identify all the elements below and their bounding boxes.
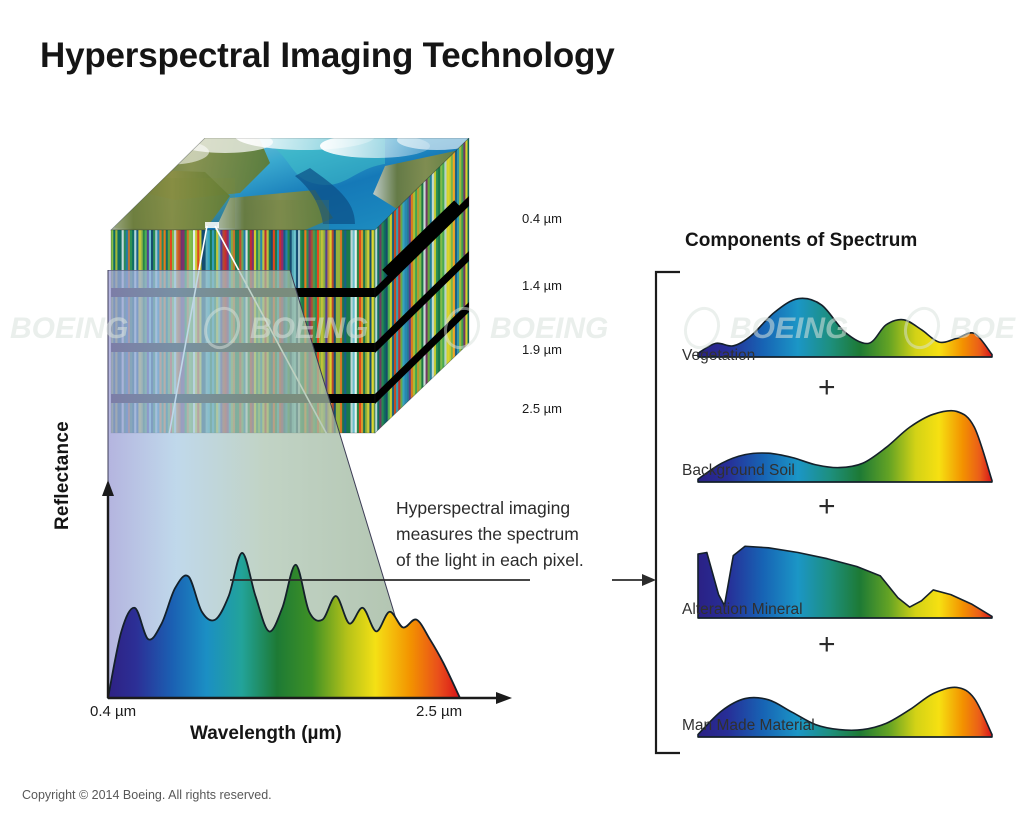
x-axis-label: Wavelength (µm) bbox=[190, 723, 342, 745]
explanatory-caption: Hyperspectral imaging measures the spect… bbox=[396, 495, 626, 573]
x-axis-end-tick: 2.5 µm bbox=[416, 703, 462, 720]
plus-sign-3: + bbox=[818, 630, 836, 660]
x-axis-arrow bbox=[496, 692, 512, 704]
plus-sign-2: + bbox=[818, 492, 836, 522]
component-label-vegetation: Vegetation bbox=[682, 347, 755, 365]
component-label-alteration-mineral: Alteration Mineral bbox=[682, 601, 803, 619]
caption-line-3: of the light in each pixel. bbox=[396, 547, 626, 573]
components-of-spectrum-panel: Components of Spectrum bbox=[650, 225, 1010, 765]
caption-line-1: Hyperspectral imaging bbox=[396, 495, 626, 521]
components-title: Components of Spectrum bbox=[685, 230, 917, 252]
plus-sign-1: + bbox=[818, 373, 836, 403]
y-axis-label: Reflectance bbox=[52, 380, 74, 530]
x-axis-start-tick: 0.4 µm bbox=[90, 703, 136, 720]
component-label-man-made-material: Man Made Material bbox=[682, 717, 815, 735]
infographic-page: Hyperspectral Imaging Technology bbox=[0, 0, 1024, 819]
caption-line-2: measures the spectrum bbox=[396, 521, 626, 547]
wavelength-label-0: 0.4 µm bbox=[522, 211, 562, 226]
copyright-notice: Copyright © 2014 Boeing. All rights rese… bbox=[22, 788, 272, 802]
component-label-background-soil: Background Soil bbox=[682, 462, 795, 480]
page-title: Hyperspectral Imaging Technology bbox=[40, 36, 614, 76]
